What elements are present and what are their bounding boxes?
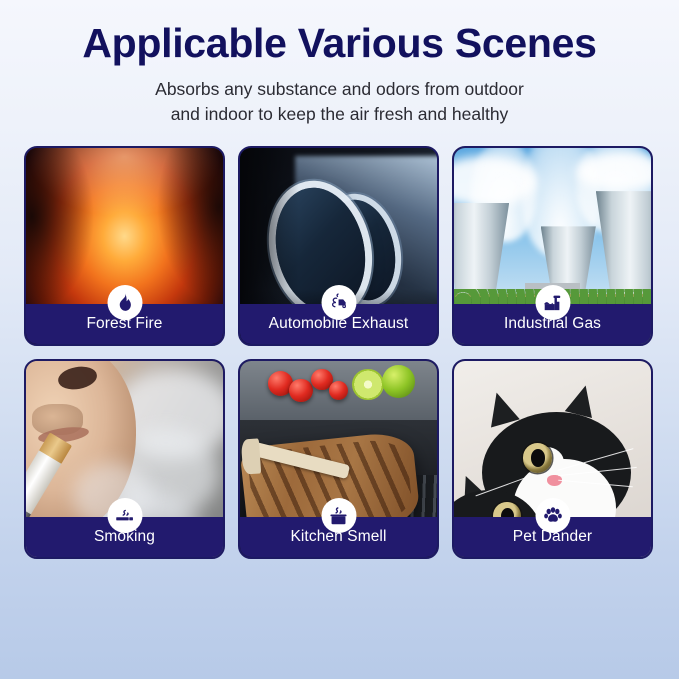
car-exhaust-icon: [321, 285, 356, 320]
page-subtitle: Absorbs any substance and odors from out…: [80, 77, 600, 127]
header: Applicable Various Scenes Absorbs any su…: [0, 0, 679, 127]
scene-card-kitchen-smell[interactable]: Kitchen Smell: [238, 359, 439, 559]
cooking-pot-icon: [321, 498, 356, 533]
scene-card-forest-fire[interactable]: Forest Fire: [24, 146, 225, 346]
page-title: Applicable Various Scenes: [0, 22, 679, 65]
scene-card-pet-dander[interactable]: Pet Dander: [452, 359, 653, 559]
infographic-page: Applicable Various Scenes Absorbs any su…: [0, 0, 679, 679]
subtitle-line-1: Absorbs any substance and odors from out…: [80, 77, 600, 102]
cigarette-icon: [107, 498, 142, 533]
flame-icon: [107, 285, 142, 320]
paw-print-icon: [535, 498, 570, 533]
factory-icon: [535, 285, 570, 320]
scene-card-smoking[interactable]: Smoking: [24, 359, 225, 559]
scene-card-automobile-exhaust[interactable]: Automobile Exhaust: [238, 146, 439, 346]
scene-card-industrial-gas[interactable]: Industrial Gas: [452, 146, 653, 346]
scene-card-grid: Forest Fire: [24, 146, 655, 559]
subtitle-line-2: and indoor to keep the air fresh and hea…: [80, 102, 600, 127]
